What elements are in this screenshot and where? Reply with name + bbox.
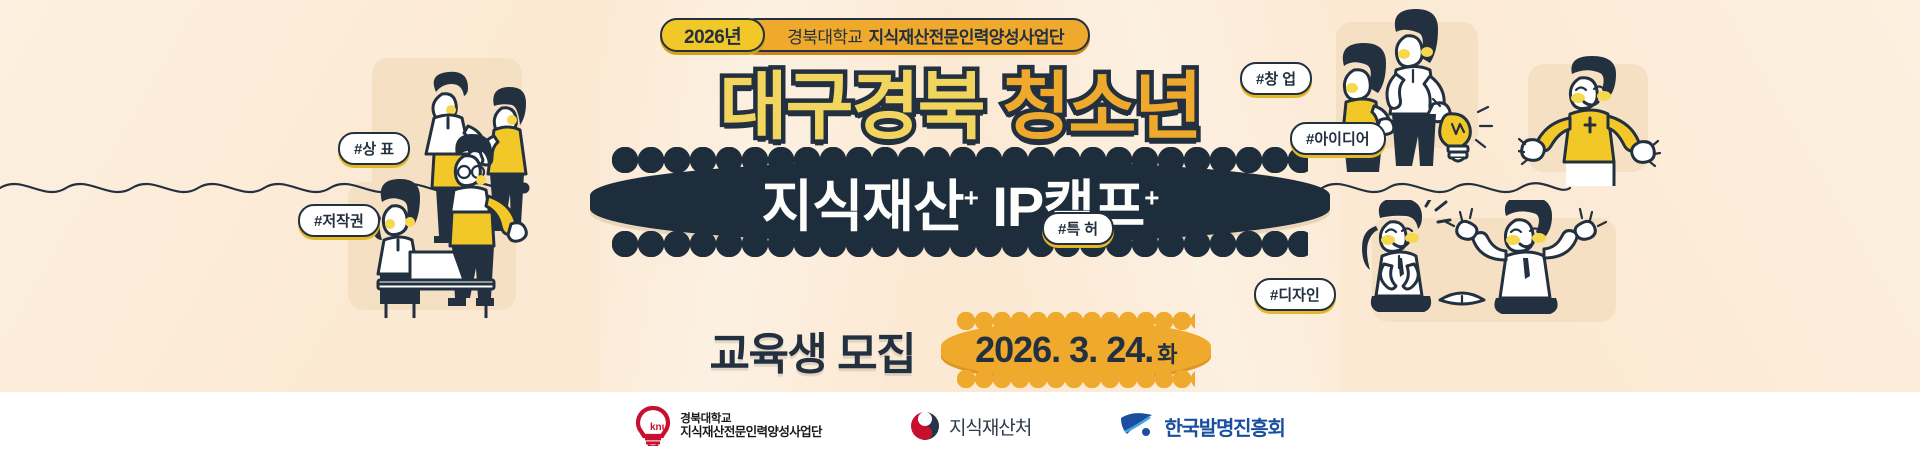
open-book-icon — [1440, 293, 1484, 304]
date-scallop-bottom — [957, 370, 1194, 388]
tag-startup: #창 업 — [1240, 62, 1312, 95]
date-text: 2026. 3. 24.화 — [975, 329, 1176, 371]
tag-design: #디자인 — [1254, 278, 1336, 311]
title-line1-part2: 청소년 — [1002, 65, 1200, 148]
svg-text:knu: knu — [650, 422, 668, 433]
recruit-row: 교육생 모집 2026. 3. 24.화 — [0, 318, 1920, 382]
title-line2-a: 지식재산 — [762, 175, 964, 238]
logo-kipo: 지식재산처 — [910, 411, 1031, 441]
swoosh-icon — [1119, 412, 1155, 440]
title-line1-part1: 대구경북 — [719, 65, 983, 148]
logo-knu-text: 경북대학교 지식재산전문인력양성사업단 — [680, 413, 822, 440]
ribbon-org-pill: 경북대학교 지식재산전문인력양성사업단 — [739, 18, 1090, 52]
tag-trademark: #상 표 — [338, 132, 410, 165]
logo-knu: knu 경북대학교 지식재산전문인력양성사업단 — [635, 406, 822, 446]
ribbon-year-pill: 2026년 — [660, 18, 765, 52]
title-line2-sup2: + — [1144, 182, 1158, 212]
logo-knu-line1: 경북대학교 — [680, 413, 822, 426]
tag-copyright-label: #저작권 — [314, 213, 364, 230]
date-day-of-week: 화 — [1157, 342, 1176, 367]
recruit-label: 교육생 모집 — [709, 318, 915, 382]
footer-logo-row: knu 경북대학교 지식재산전문인력양성사업단 지식재산처 한국발명진흥회 — [0, 398, 1920, 454]
illustration-right-cheer-boy — [1518, 56, 1668, 186]
tag-startup-label: #창 업 — [1256, 71, 1296, 88]
lightbulb-knu-icon: knu — [635, 406, 671, 446]
tag-patent: #특 허 — [1042, 212, 1114, 245]
illustration-left-students — [356, 56, 546, 318]
ribbon-org-plain: 경북대학교 — [787, 23, 862, 48]
figure-cheering-boy — [1518, 56, 1660, 186]
tag-idea-label: #아이디어 — [1306, 131, 1370, 148]
illustration-right-seated-pair — [1340, 200, 1620, 320]
tag-patent-label: #특 허 — [1058, 221, 1098, 238]
tag-trademark-label: #상 표 — [354, 141, 394, 158]
tag-design-label: #디자인 — [1270, 287, 1320, 304]
logo-kipo-text: 지식재산처 — [949, 413, 1031, 440]
ribbon-year-text: 2026년 — [684, 22, 741, 49]
tag-copyright: #저작권 — [298, 204, 380, 237]
title-line2-sup1: + — [964, 182, 978, 212]
figure-seated-girl-ponytail — [1362, 200, 1450, 312]
figure-tall-woman — [1387, 9, 1450, 166]
title-cloud-badge: 지식재산+ IP캠프+ — [590, 160, 1330, 244]
date-badge: 2026. 3. 24.화 — [941, 321, 1210, 379]
date-value: 2026. 3. 24. — [975, 329, 1153, 370]
logo-knu-line2: 지식재산전문인력양성사업단 — [680, 425, 822, 439]
ribbon-org-bold: 지식재산전문인력양성사업단 — [868, 23, 1064, 48]
logo-kipa: 한국발명진흥회 — [1119, 412, 1284, 441]
date-scallop-top — [957, 312, 1194, 330]
logo-kipa-text: 한국발명진흥회 — [1164, 412, 1284, 441]
promo-banner: 2026년 경북대학교 지식재산전문인력양성사업단 대구경북 청소년 지식재산+… — [0, 0, 1920, 460]
tag-idea: #아이디어 — [1290, 122, 1386, 155]
ribbon: 2026년 경북대학교 지식재산전문인력양성사업단 — [660, 18, 1090, 52]
taegeuk-icon — [910, 411, 940, 441]
